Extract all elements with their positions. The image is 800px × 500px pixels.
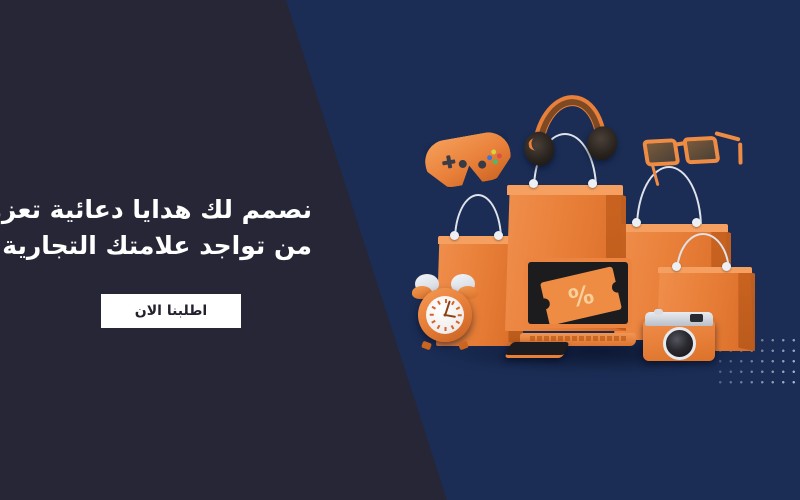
- clock-hour-hand: [445, 314, 456, 318]
- sunglasses-lens-right: [682, 136, 720, 164]
- gamepad-stick-right: [478, 160, 487, 169]
- clock-center-pin: [444, 314, 447, 317]
- sunglasses-frame: [642, 130, 724, 172]
- clock-case: [418, 288, 472, 342]
- bag-handle-knob: [450, 231, 459, 240]
- laptop-lid: %: [524, 258, 632, 328]
- camera-lens: [663, 327, 696, 360]
- sunglasses-temple-tip: [738, 143, 742, 165]
- bag-handle-knob: [632, 218, 641, 227]
- laptop-screen: %: [528, 262, 628, 324]
- headline-block: نصمم لك هدايا دعائية تعزز من تواجد علامت…: [0, 192, 330, 263]
- camera-shutter-button: [654, 309, 663, 315]
- laptop-icon: %: [520, 258, 636, 350]
- bag-side-panel: [738, 269, 755, 351]
- headline-line-1: نصمم لك هدايا دعائية تعزز: [0, 192, 312, 228]
- sunglasses-icon: [641, 121, 744, 189]
- bag-handle-knob: [692, 218, 701, 227]
- camera-viewfinder: [690, 314, 703, 322]
- bag-handle-knob: [722, 262, 731, 271]
- product-scene: %: [400, 80, 800, 410]
- cta-container: اطلبنا الان: [101, 294, 241, 328]
- order-now-button[interactable]: اطلبنا الان: [101, 294, 241, 328]
- clock-face: [426, 296, 464, 334]
- camera-icon: [643, 310, 715, 362]
- smartphone-body: [504, 342, 570, 358]
- discount-coupon-icon: %: [540, 266, 622, 324]
- gamepad-dpad-icon: [441, 154, 456, 169]
- bag-handle-knob: [588, 179, 597, 188]
- promo-banner: % نصمم لك هدايا دعائية تعزز من تواجد علا…: [0, 0, 800, 500]
- laptop-keyboard: [530, 336, 626, 341]
- bag-handle-knob: [672, 262, 681, 271]
- bag-handle-knob: [494, 231, 503, 240]
- headline-line-2: من تواجد علامتك التجارية: [0, 228, 312, 264]
- bag-handle-knob: [529, 179, 538, 188]
- gamepad-face-buttons: [486, 148, 505, 167]
- bag-top-edge: [507, 185, 622, 195]
- gamepad-body: [422, 129, 515, 191]
- page-title: نصمم لك هدايا دعائية تعزز من تواجد علامت…: [0, 192, 312, 263]
- headphones-icon: [524, 91, 618, 178]
- gamepad-icon: [420, 121, 515, 197]
- gamepad-stick-left: [458, 159, 467, 168]
- alarm-clock-icon: [412, 272, 478, 346]
- coupon-percent-symbol: %: [566, 281, 596, 311]
- smartphone-icon: [508, 342, 566, 358]
